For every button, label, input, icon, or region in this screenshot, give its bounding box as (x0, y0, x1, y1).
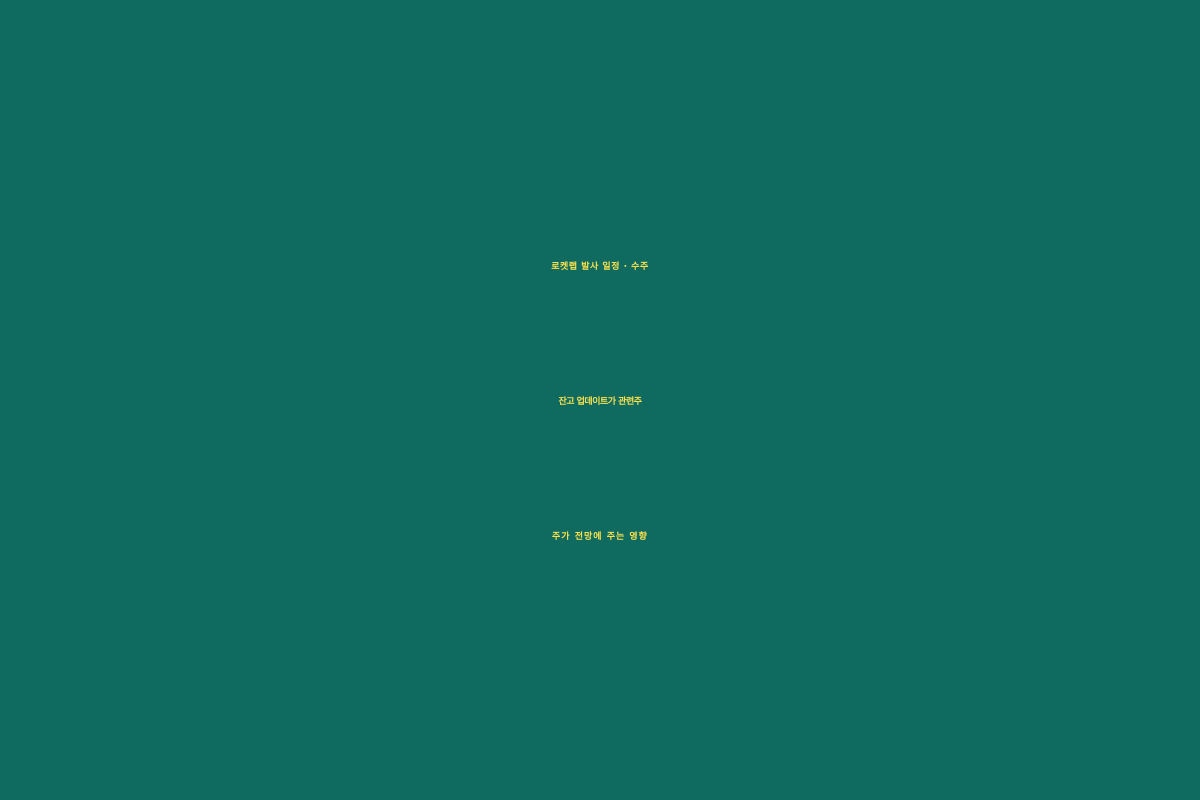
headline-line-2: 잔고 업데이트가 관련주 (70, 335, 1130, 470)
headline-line-3: 주가 전망에 주는 영향 (70, 470, 1130, 605)
headline-block: 로켓랩 발사 일정 · 수주 잔고 업데이트가 관련주 주가 전망에 주는 영향 (70, 200, 1130, 605)
title-card-canvas: 로켓랩 발사 일정 · 수주 잔고 업데이트가 관련주 주가 전망에 주는 영향 (0, 0, 1200, 800)
headline-line-1: 로켓랩 발사 일정 · 수주 (70, 200, 1130, 335)
